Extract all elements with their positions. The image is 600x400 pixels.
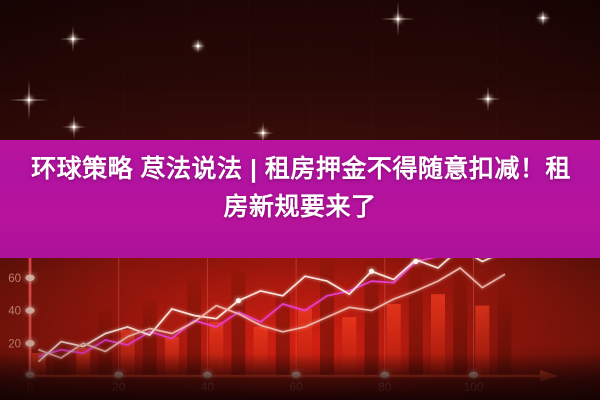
thumbnail-canvas: 20406080100 020406080100 环球策略 荩法说法 | 租房押… bbox=[0, 0, 600, 400]
headline-line-2: 房新规要来了 bbox=[223, 188, 376, 226]
headline-block: 环球策略 荩法说法 | 租房押金不得随意扣减！租 房新规要来了 bbox=[0, 150, 600, 250]
background-bottom-fade bbox=[0, 354, 600, 400]
headline-line-1: 环球策略 荩法说法 | 租房押金不得随意扣减！租 bbox=[29, 150, 571, 188]
